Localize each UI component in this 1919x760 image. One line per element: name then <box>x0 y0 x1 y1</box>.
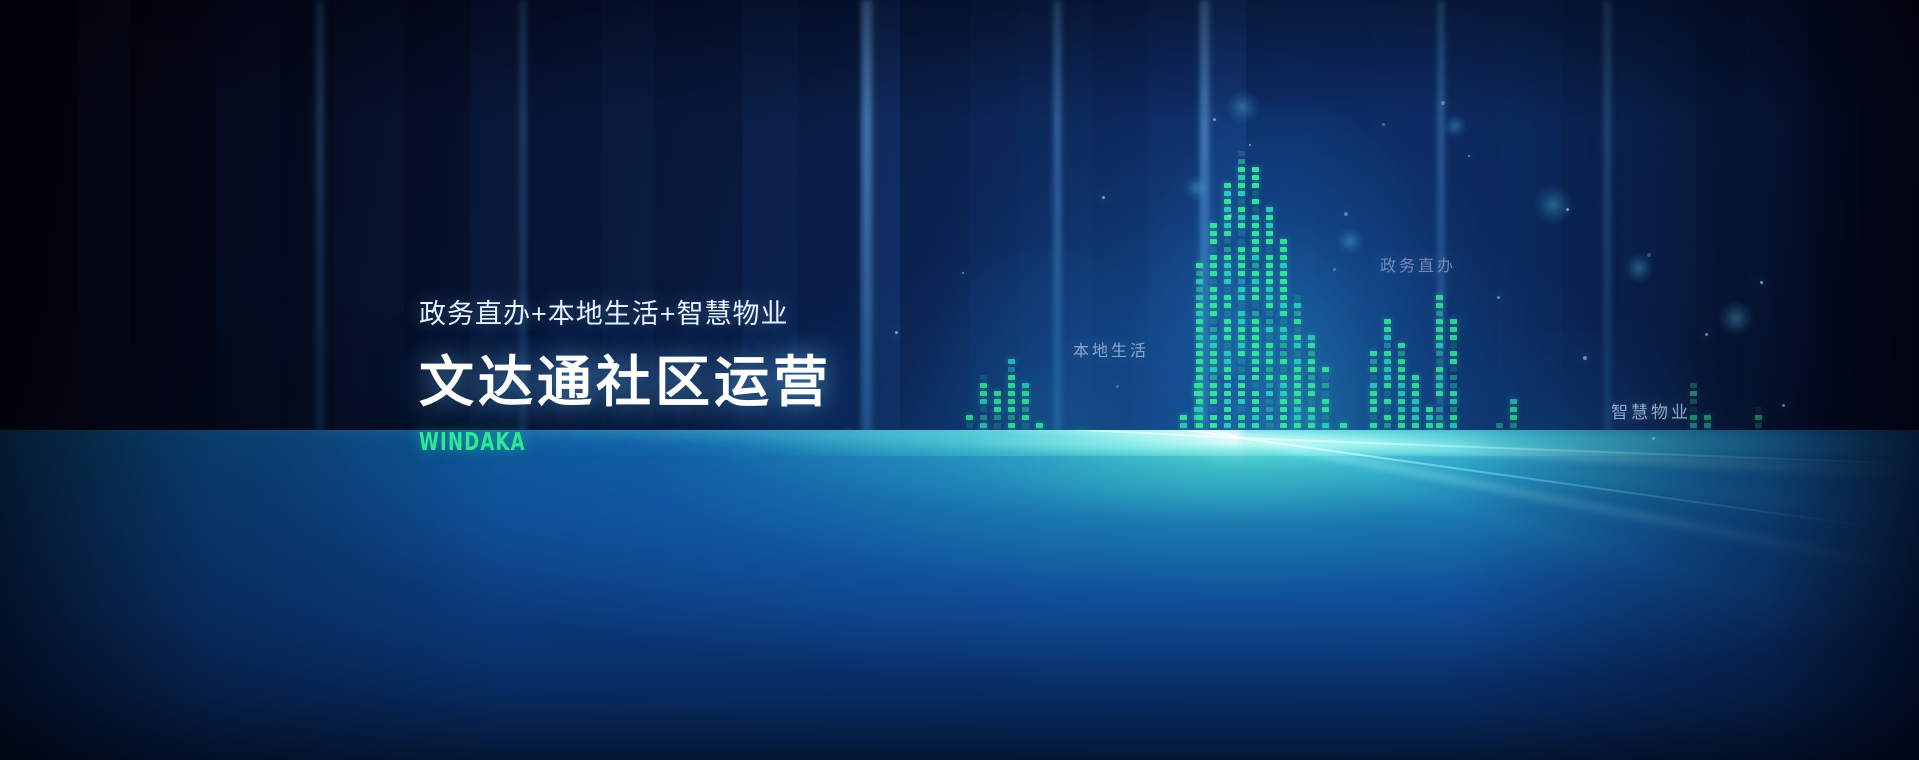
skyline-dot <box>1280 279 1287 284</box>
skyline-dot <box>1436 351 1443 356</box>
perspective-ground-plane <box>0 430 1919 760</box>
sparkle-particle <box>1213 118 1216 121</box>
skyline-dot <box>1238 183 1245 188</box>
skyline-dot <box>1755 407 1762 412</box>
skyline-dot <box>1294 407 1301 412</box>
sparkle-particle <box>1583 356 1587 360</box>
skyline-dot <box>1266 311 1273 316</box>
skyline-dot <box>1238 367 1245 372</box>
skyline-dot <box>1436 399 1443 404</box>
skyline-dot <box>1252 327 1259 332</box>
skyline-dot <box>1704 423 1711 428</box>
hero-kicker: 政务直办+本地生活+智慧物业 <box>419 292 832 331</box>
skyline-dot <box>1238 311 1245 316</box>
skyline-dot <box>1398 391 1405 396</box>
skyline-dot <box>1210 247 1217 252</box>
skyline-dot <box>1252 279 1259 284</box>
skyline-dot <box>1196 271 1203 276</box>
sparkle-particle <box>1102 196 1105 199</box>
skyline-dot <box>1224 247 1231 252</box>
skyline-dot <box>1238 191 1245 196</box>
skyline-dot <box>1280 367 1287 372</box>
skyline-dot <box>1370 407 1377 412</box>
skyline-dot <box>1280 359 1287 364</box>
skyline-dot <box>1280 407 1287 412</box>
skyline-dot <box>1224 359 1231 364</box>
skyline-dot <box>1266 335 1273 340</box>
skyline-dot <box>1280 319 1287 324</box>
skyline-dot <box>1384 383 1391 388</box>
skyline-dot <box>1436 391 1443 396</box>
skyline-dot <box>1252 263 1259 268</box>
skyline-dot <box>1436 327 1443 332</box>
skyline-dot <box>1252 295 1259 300</box>
skyline-dot <box>1280 303 1287 308</box>
skyline-dot <box>1210 391 1217 396</box>
skyline-dot <box>1450 359 1457 364</box>
skyline-dot <box>1412 399 1419 404</box>
skyline-dot <box>1322 415 1329 420</box>
skyline-dot <box>1238 319 1245 324</box>
skyline-dot <box>1252 215 1259 220</box>
skyline-dot <box>1436 415 1443 420</box>
sparkle-particle <box>1116 385 1119 388</box>
skyline-dot <box>1196 295 1203 300</box>
skyline-dot <box>1210 263 1217 268</box>
skyline-dot <box>1308 399 1315 404</box>
skyline-dot <box>1450 423 1457 428</box>
skyline-dot <box>1210 407 1217 412</box>
sparkle-particle <box>1249 144 1251 146</box>
skyline-dot <box>1370 375 1377 380</box>
skyline-dot <box>1252 399 1259 404</box>
skyline-dot <box>1224 279 1231 284</box>
skyline-dot <box>1238 167 1245 172</box>
skyline-dot <box>1266 343 1273 348</box>
skyline-dot <box>1252 311 1259 316</box>
skyline-dot <box>1294 335 1301 340</box>
skyline-dot <box>1370 391 1377 396</box>
skyline-dot <box>1252 207 1259 212</box>
sparkle-particle <box>1468 155 1470 157</box>
skyline-dot <box>1308 343 1315 348</box>
skyline-dot <box>1210 287 1217 292</box>
sparkle-particle <box>1441 101 1445 105</box>
skyline-dot <box>1196 407 1203 412</box>
skyline-dot <box>1196 399 1203 404</box>
skyline-dot <box>1266 351 1273 356</box>
skyline-dot <box>1238 255 1245 260</box>
skyline-dot <box>1280 247 1287 252</box>
skyline-dot <box>1196 263 1203 268</box>
skyline-dot <box>1370 351 1377 356</box>
skyline-dot <box>1224 423 1231 428</box>
skyline-dot <box>1412 407 1419 412</box>
skyline-dot <box>1398 343 1405 348</box>
bokeh-particle <box>1533 185 1573 225</box>
skyline-dot <box>1238 335 1245 340</box>
sparkle-particle <box>1228 214 1232 218</box>
skyline-dot <box>1252 391 1259 396</box>
skyline-dot <box>1266 247 1273 252</box>
skyline-dot <box>1496 423 1503 428</box>
skyline-dot <box>1384 327 1391 332</box>
skyline-dot <box>1238 223 1245 228</box>
skyline-dot <box>1450 351 1457 356</box>
skyline-dot <box>1238 239 1245 244</box>
skyline-dot <box>1280 311 1287 316</box>
skyline-dot <box>1384 367 1391 372</box>
skyline-dot <box>994 407 1001 412</box>
skyline-dot <box>1196 423 1203 428</box>
skyline-dot <box>1294 415 1301 420</box>
skyline-dot <box>1436 311 1443 316</box>
skyline-dot <box>1294 359 1301 364</box>
skyline-dot <box>1210 311 1217 316</box>
skyline-dot <box>1252 255 1259 260</box>
skyline-dot <box>1224 287 1231 292</box>
skyline-dot <box>1224 303 1231 308</box>
skyline-dot <box>1252 199 1259 204</box>
sparkle-particle <box>962 272 964 274</box>
skyline-dot <box>1370 367 1377 372</box>
skyline-dot <box>1224 407 1231 412</box>
skyline-dot <box>1238 423 1245 428</box>
skyline-dot <box>1294 391 1301 396</box>
sparkle-particle <box>1652 437 1655 440</box>
skyline-dot <box>1294 399 1301 404</box>
skyline-dot <box>1370 383 1377 388</box>
skyline-dot <box>1322 399 1329 404</box>
skyline-dot <box>1008 407 1015 412</box>
skyline-dot <box>1210 383 1217 388</box>
skyline-dot <box>1510 407 1517 412</box>
skyline-dot <box>1308 335 1315 340</box>
skyline-dot <box>1266 327 1273 332</box>
skyline-dot <box>1280 271 1287 276</box>
skyline-dot <box>1196 359 1203 364</box>
skyline-dot <box>1704 415 1711 420</box>
skyline-dot <box>1398 423 1405 428</box>
skyline-dot <box>1322 383 1329 388</box>
skyline-dot <box>1224 183 1231 188</box>
skyline-dot <box>1196 319 1203 324</box>
skyline-dot <box>1196 287 1203 292</box>
sparkle-particle <box>895 331 898 334</box>
skyline-dot <box>1252 247 1259 252</box>
skyline-dot <box>1398 375 1405 380</box>
skyline-dot <box>1224 375 1231 380</box>
skyline-dot <box>1398 399 1405 404</box>
skyline-dot <box>1280 399 1287 404</box>
skyline-dot <box>1252 271 1259 276</box>
skyline-dot <box>1210 319 1217 324</box>
skyline-dot <box>1252 183 1259 188</box>
skyline-dot <box>1252 407 1259 412</box>
skyline-dot <box>1224 319 1231 324</box>
skyline-dot <box>1450 399 1457 404</box>
skyline-dot <box>1224 191 1231 196</box>
skyline-dot <box>1022 391 1029 396</box>
skyline-dot <box>1266 415 1273 420</box>
skyline-dot <box>1238 247 1245 252</box>
skyline-dot <box>1436 319 1443 324</box>
skyline-dot <box>1008 391 1015 396</box>
floating-label-local-life: 本地生活 <box>1073 337 1149 361</box>
skyline-dot <box>1398 367 1405 372</box>
skyline-dot <box>1266 263 1273 268</box>
skyline-dot <box>1280 423 1287 428</box>
skyline-dot <box>1322 375 1329 380</box>
sparkle-particle <box>1497 296 1500 299</box>
skyline-dot <box>1280 263 1287 268</box>
skyline-dot <box>1224 415 1231 420</box>
skyline-dot <box>1436 343 1443 348</box>
sparkle-particle <box>1705 333 1708 336</box>
skyline-dot <box>1266 271 1273 276</box>
skyline-dot <box>1690 383 1697 388</box>
skyline-dot <box>1308 367 1315 372</box>
skyline-dot <box>1252 319 1259 324</box>
skyline-dot <box>1755 415 1762 420</box>
skyline-dot <box>1210 335 1217 340</box>
skyline-dot <box>1210 271 1217 276</box>
skyline-dot <box>1238 279 1245 284</box>
skyline-dot <box>1224 207 1231 212</box>
skyline-dot <box>1510 415 1517 420</box>
skyline-dot <box>1294 351 1301 356</box>
skyline-dot <box>1252 375 1259 380</box>
skyline-dot <box>1436 295 1443 300</box>
skyline-dot <box>1210 279 1217 284</box>
sparkle-particle <box>1344 212 1348 216</box>
skyline-dot <box>1008 415 1015 420</box>
skyline-dot <box>1008 359 1015 364</box>
skyline-dot <box>1210 255 1217 260</box>
skyline-dot <box>1210 327 1217 332</box>
skyline-dot <box>1238 199 1245 204</box>
skyline-dot <box>1322 423 1329 428</box>
skyline-dot <box>1450 335 1457 340</box>
skyline-dot <box>1384 359 1391 364</box>
skyline-dot <box>1238 159 1245 164</box>
skyline-dot <box>1238 215 1245 220</box>
skyline-dot <box>1252 335 1259 340</box>
skyline-dot <box>1224 343 1231 348</box>
skyline-dot <box>1224 295 1231 300</box>
skyline-dot <box>1238 327 1245 332</box>
skyline-dot <box>1280 335 1287 340</box>
skyline-dot <box>1210 367 1217 372</box>
skyline-dot <box>1412 415 1419 420</box>
skyline-dot <box>994 423 1001 428</box>
skyline-dot <box>1252 223 1259 228</box>
skyline-dot <box>1436 335 1443 340</box>
skyline-dot <box>1690 407 1697 412</box>
skyline-dot <box>1036 423 1043 428</box>
skyline-dot <box>1266 399 1273 404</box>
skyline-dot <box>1450 343 1457 348</box>
skyline-dot <box>1238 263 1245 268</box>
skyline-dot <box>980 407 987 412</box>
skyline-dot <box>1294 423 1301 428</box>
skyline-dot <box>1690 399 1697 404</box>
skyline-dot <box>1196 327 1203 332</box>
skyline-dot <box>1238 231 1245 236</box>
bokeh-particle <box>1718 300 1754 336</box>
skyline-dot <box>1294 303 1301 308</box>
skyline-dot <box>1008 367 1015 372</box>
skyline-dot <box>1252 383 1259 388</box>
skyline-dot <box>980 399 987 404</box>
skyline-dot <box>1266 223 1273 228</box>
skyline-dot <box>1252 343 1259 348</box>
skyline-dot <box>1252 423 1259 428</box>
hero-banner: 政务直办+本地生活+智慧物业 文达通社区运营 WINDAKA 政务直办本地生活智… <box>0 0 1919 760</box>
skyline-dot <box>1308 423 1315 428</box>
skyline-dot <box>1280 255 1287 260</box>
skyline-dot <box>1266 391 1273 396</box>
skyline-dot <box>1370 399 1377 404</box>
skyline-dot <box>1755 423 1762 428</box>
skyline-dot <box>1294 319 1301 324</box>
skyline-dot <box>1238 343 1245 348</box>
brand-wordmark: WINDAKA <box>419 427 749 456</box>
skyline-dot <box>1252 351 1259 356</box>
skyline-dot <box>1426 423 1433 428</box>
bokeh-particle <box>1336 227 1364 255</box>
skyline-dot <box>1196 383 1203 388</box>
skyline-dot <box>1266 215 1273 220</box>
skyline-dot <box>1294 375 1301 380</box>
skyline-dot <box>1690 423 1697 428</box>
skyline-dot <box>1280 295 1287 300</box>
skyline-dot <box>1412 375 1419 380</box>
skyline-dot <box>1238 415 1245 420</box>
skyline-dot <box>1384 391 1391 396</box>
skyline-dot <box>1252 191 1259 196</box>
bokeh-particle <box>1183 175 1209 201</box>
skyline-dot <box>1224 271 1231 276</box>
skyline-dot <box>1266 407 1273 412</box>
skyline-dot <box>1238 287 1245 292</box>
skyline-dot <box>1224 327 1231 332</box>
skyline-dot <box>1436 423 1443 428</box>
skyline-dot <box>1252 303 1259 308</box>
skyline-dot <box>1022 383 1029 388</box>
skyline-dot <box>1426 407 1433 412</box>
skyline-dot <box>1294 343 1301 348</box>
skyline-dot <box>1266 367 1273 372</box>
bokeh-particle <box>1624 253 1654 283</box>
skyline-dot <box>980 415 987 420</box>
bokeh-particle <box>1226 90 1260 124</box>
skyline-dot <box>1238 399 1245 404</box>
skyline-dot <box>1412 383 1419 388</box>
skyline-dot <box>1252 175 1259 180</box>
skyline-dot <box>1280 327 1287 332</box>
skyline-dot <box>994 399 1001 404</box>
skyline-dot <box>1196 303 1203 308</box>
skyline-dot <box>1196 335 1203 340</box>
skyline-dot <box>1210 399 1217 404</box>
skyline-dot <box>1210 415 1217 420</box>
skyline-dot <box>1022 415 1029 420</box>
skyline-dot <box>1210 231 1217 236</box>
skyline-dot <box>1224 255 1231 260</box>
skyline-dot <box>1238 351 1245 356</box>
bokeh-particle <box>1443 114 1467 138</box>
skyline-dot <box>1308 407 1315 412</box>
skyline-dot <box>1280 351 1287 356</box>
skyline-dot <box>1196 367 1203 372</box>
skyline-dot <box>1224 223 1231 228</box>
sparkle-particle <box>1333 268 1336 271</box>
skyline-dot <box>1450 319 1457 324</box>
skyline-dot <box>1294 311 1301 316</box>
skyline-dot <box>1436 407 1443 412</box>
skyline-dot <box>1266 383 1273 388</box>
skyline-dot <box>1196 343 1203 348</box>
skyline-dot <box>1398 383 1405 388</box>
skyline-dot <box>1436 367 1443 372</box>
skyline-dot <box>1398 415 1405 420</box>
skyline-dot <box>1238 375 1245 380</box>
hero-headline: 文达通社区运营 <box>419 337 832 417</box>
skyline-dot <box>1308 359 1315 364</box>
skyline-dot <box>1008 423 1015 428</box>
skyline-dot <box>1224 311 1231 316</box>
skyline-dot <box>1266 359 1273 364</box>
skyline-dot <box>1436 303 1443 308</box>
skyline-dot <box>1252 415 1259 420</box>
skyline-dot <box>1294 295 1301 300</box>
sparkle-particle <box>1760 281 1763 284</box>
skyline-dot <box>1280 287 1287 292</box>
skyline-dot <box>966 415 973 420</box>
skyline-dot <box>1436 375 1443 380</box>
skyline-dot <box>1322 367 1329 372</box>
skyline-dot <box>1308 391 1315 396</box>
skyline-dot <box>1224 263 1231 268</box>
skyline-dot <box>1412 423 1419 428</box>
skyline-dot <box>1322 391 1329 396</box>
skyline-dot <box>1510 423 1517 428</box>
skyline-dot <box>994 415 1001 420</box>
skyline-dot <box>1238 271 1245 276</box>
skyline-dot <box>1384 407 1391 412</box>
skyline-dot <box>1308 415 1315 420</box>
skyline-dot <box>1180 423 1187 428</box>
skyline-dot <box>1294 383 1301 388</box>
skyline-dot <box>1280 391 1287 396</box>
skyline-dot <box>1252 359 1259 364</box>
skyline-dot <box>1210 343 1217 348</box>
skyline-dot <box>1426 415 1433 420</box>
skyline-dot <box>1384 375 1391 380</box>
skyline-dot <box>980 391 987 396</box>
floating-label-govt-service: 政务直办 <box>1380 252 1456 276</box>
skyline-dot <box>1252 367 1259 372</box>
skyline-dot <box>1450 407 1457 412</box>
skyline-dot <box>966 423 973 428</box>
skyline-dot <box>1022 423 1029 428</box>
skyline-dot <box>1266 423 1273 428</box>
skyline-dot <box>1196 375 1203 380</box>
skyline-dot <box>1238 303 1245 308</box>
sparkle-particle <box>1382 123 1385 126</box>
skyline-dot <box>1384 423 1391 428</box>
